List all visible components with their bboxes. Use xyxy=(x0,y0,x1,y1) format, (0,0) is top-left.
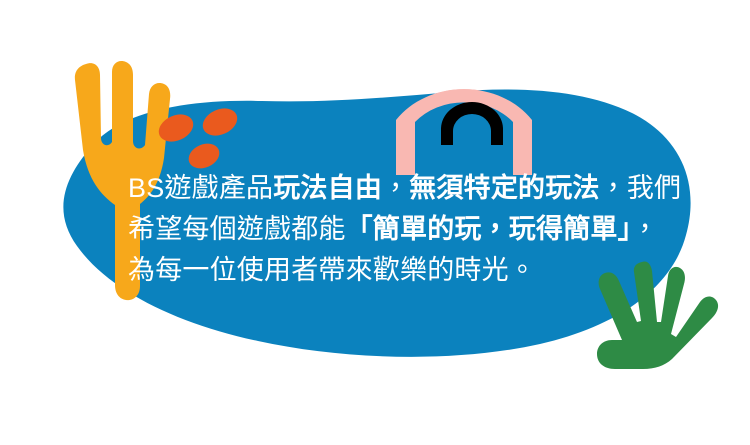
message-line-1: BS遊戲產品玩法自由，無須特定的玩法，我們 xyxy=(128,168,688,209)
line2-seg2: 「簡單的玩，玩得簡單」 xyxy=(346,214,632,244)
line2-seg3: ， xyxy=(631,214,658,244)
line1-seg3: ， xyxy=(382,173,409,203)
banner-root: BS遊戲產品玩法自由，無須特定的玩法，我們 希望每個遊戲都能「簡單的玩，玩得簡單… xyxy=(0,0,750,445)
line1-seg2: 玩法自由 xyxy=(273,173,382,203)
message-line-3: 為每一位使用者帶來歡樂的時光。 xyxy=(128,250,688,291)
line1-seg1: BS遊戲產品 xyxy=(128,173,273,203)
message-line-2: 希望每個遊戲都能「簡單的玩，玩得簡單」， xyxy=(128,209,688,250)
message-text-block: BS遊戲產品玩法自由，無須特定的玩法，我們 希望每個遊戲都能「簡單的玩，玩得簡單… xyxy=(128,168,688,291)
line3-seg1: 為每一位使用者帶來歡樂的時光。 xyxy=(128,255,536,285)
line1-seg5: ，我們 xyxy=(600,173,682,203)
line1-seg4: 無須特定的玩法 xyxy=(409,173,599,203)
line2-seg1: 希望每個遊戲都能 xyxy=(128,214,346,244)
